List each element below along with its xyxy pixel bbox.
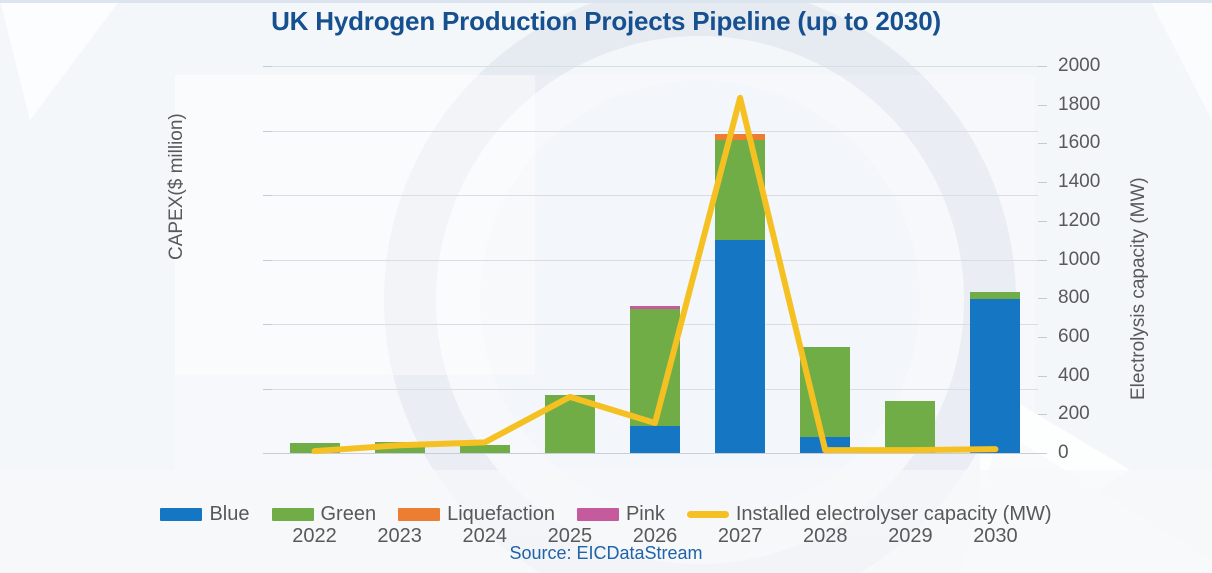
left-axis-title: CAPEX($ million) bbox=[166, 113, 188, 260]
legend-label: Green bbox=[321, 503, 377, 526]
left-tick-mark bbox=[263, 389, 272, 390]
left-tick-mark bbox=[263, 66, 272, 67]
right-axis-tick-label: 1800 bbox=[1058, 94, 1100, 116]
right-axis-tick-label: 400 bbox=[1058, 365, 1090, 387]
legend-label: Installed electrolyser capacity (MW) bbox=[736, 503, 1052, 526]
legend-item[interactable]: Pink bbox=[577, 503, 665, 526]
left-tick-mark bbox=[263, 260, 272, 261]
legend-label: Liquefaction bbox=[447, 503, 555, 526]
right-tick-mark bbox=[1038, 105, 1047, 106]
right-axis-tick-label: 0 bbox=[1058, 442, 1069, 464]
legend-swatch-icon bbox=[577, 508, 619, 521]
right-axis-tick-label: 600 bbox=[1058, 326, 1090, 348]
legend-label: Blue bbox=[209, 503, 249, 526]
legend-item[interactable]: Green bbox=[272, 503, 377, 526]
legend-swatch-icon bbox=[687, 511, 729, 518]
right-tick-mark bbox=[1038, 221, 1047, 222]
legend-item[interactable]: Blue bbox=[160, 503, 249, 526]
capacity-polyline bbox=[315, 98, 996, 451]
right-tick-mark bbox=[1038, 260, 1047, 261]
chart-figure: CAPEX($ million) Electrolysis capacity (… bbox=[0, 0, 1212, 573]
source-note: Source: EICDataStream bbox=[0, 543, 1212, 564]
line-series-electrolyser-capacity bbox=[272, 66, 1038, 456]
legend-swatch-icon bbox=[272, 508, 314, 521]
right-tick-mark bbox=[1038, 414, 1047, 415]
legend-item[interactable]: Liquefaction bbox=[398, 503, 555, 526]
right-axis-tick-label: 200 bbox=[1058, 403, 1090, 425]
legend-swatch-icon bbox=[398, 508, 440, 521]
right-axis-tick-label: 1600 bbox=[1058, 132, 1100, 154]
right-axis-tick-label: 1400 bbox=[1058, 171, 1100, 193]
right-axis-tick-label: 1000 bbox=[1058, 249, 1100, 271]
left-tick-mark bbox=[263, 131, 272, 132]
page-title: UK Hydrogen Production Projects Pipeline… bbox=[0, 6, 1212, 37]
legend-label: Pink bbox=[626, 503, 665, 526]
right-tick-mark bbox=[1038, 298, 1047, 299]
right-axis-tick-label: 1200 bbox=[1058, 210, 1100, 232]
legend-item[interactable]: Installed electrolyser capacity (MW) bbox=[687, 503, 1052, 526]
right-axis-tick-label: 2000 bbox=[1058, 55, 1100, 77]
left-tick-mark bbox=[263, 324, 272, 325]
right-tick-mark bbox=[1038, 182, 1047, 183]
top-divider bbox=[0, 0, 1212, 3]
right-axis-title: Electrolysis capacity (MW) bbox=[1128, 177, 1150, 400]
right-tick-mark bbox=[1038, 66, 1047, 67]
left-tick-mark bbox=[263, 195, 272, 196]
right-tick-mark bbox=[1038, 143, 1047, 144]
legend-swatch-icon bbox=[160, 508, 202, 521]
right-axis-tick-label: 800 bbox=[1058, 287, 1090, 309]
right-tick-mark bbox=[1038, 376, 1047, 377]
chart-legend: BlueGreenLiquefactionPinkInstalled elect… bbox=[0, 503, 1212, 526]
right-tick-mark bbox=[1038, 337, 1047, 338]
